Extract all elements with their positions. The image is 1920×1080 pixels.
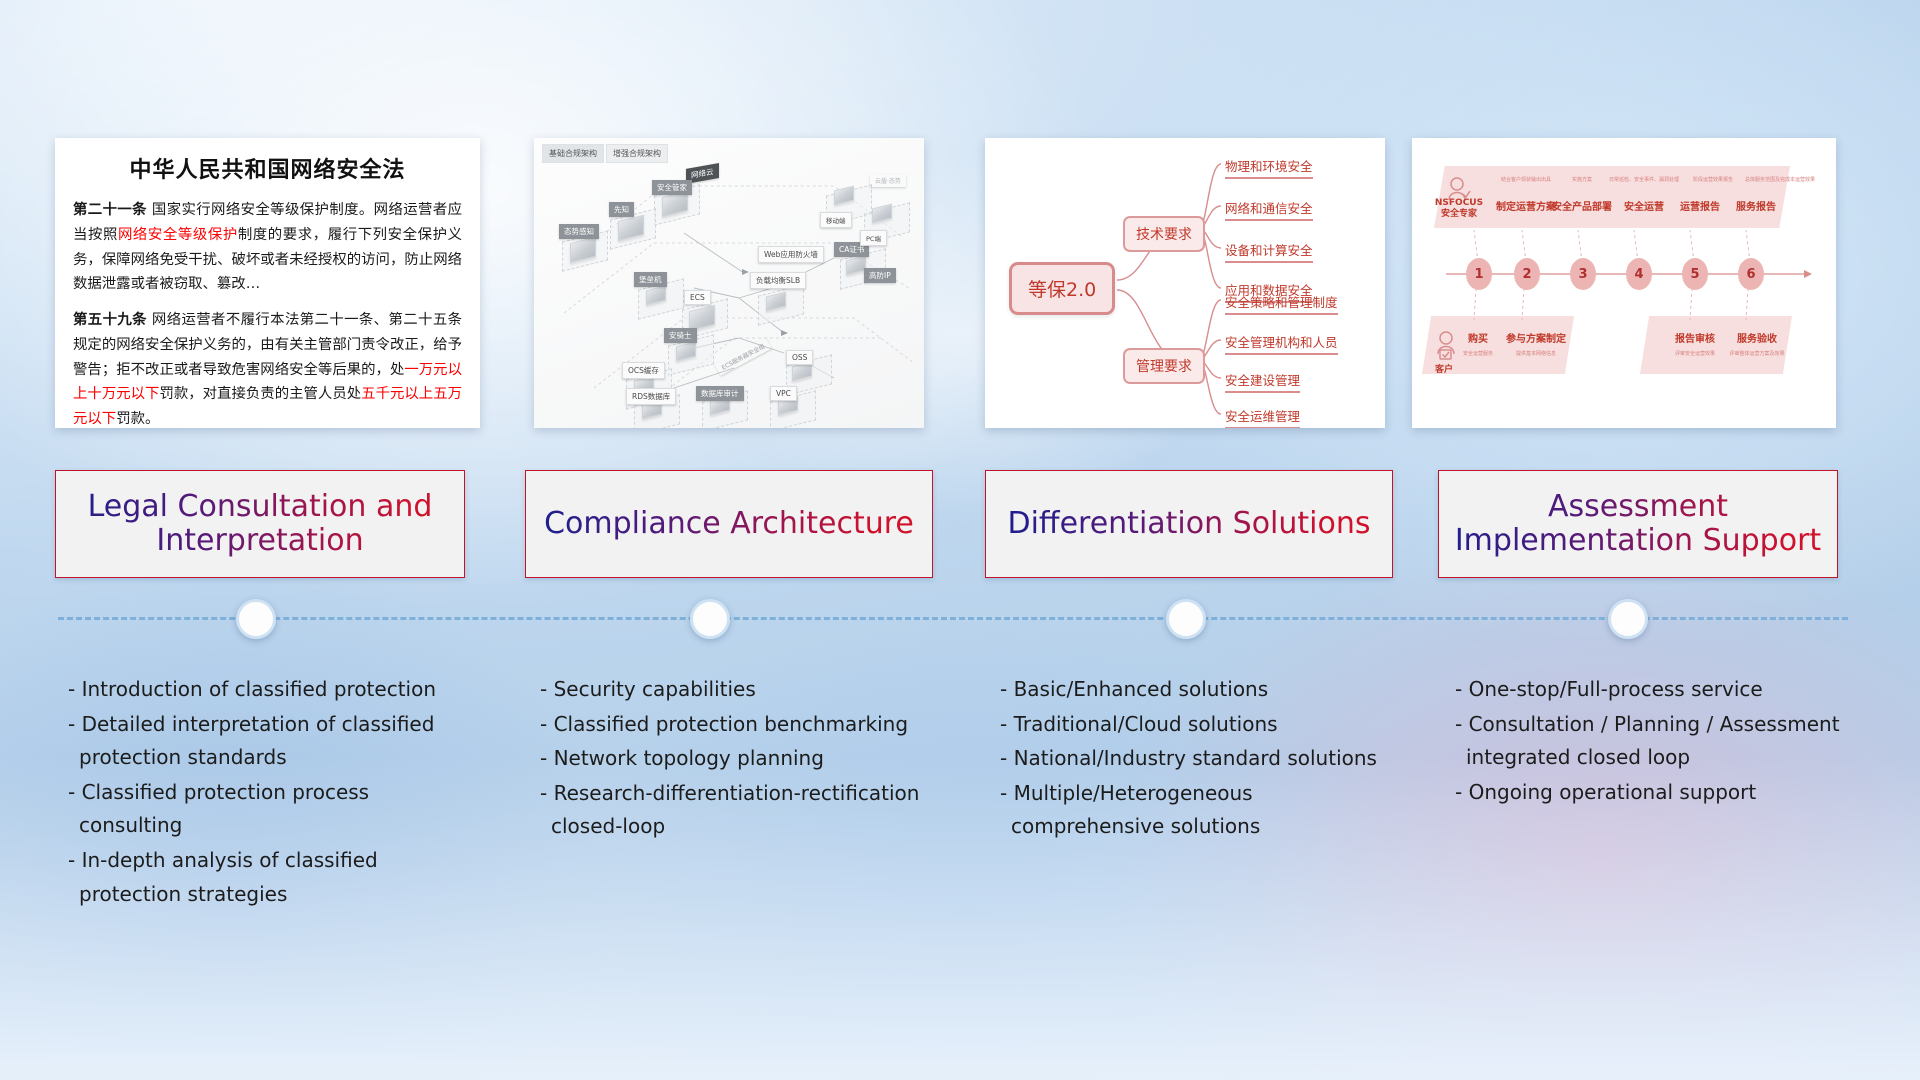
process-step-4-marker: 4 — [1626, 258, 1652, 290]
title-text-legal-consultation: Legal Consultation and Interpretation — [56, 490, 464, 559]
mindmap-root-node: 等保2.0 — [1009, 262, 1115, 315]
arch-node-bastion-host: 堡垒机 — [634, 272, 667, 287]
list-item: - Ongoing operational support — [1455, 776, 1855, 810]
law-article-21: 第二十一条 国家实行网络安全等级保护制度。网络运营者应当按照网络安全等级保护制度… — [73, 198, 462, 297]
process-step-6-marker: 6 — [1738, 258, 1764, 290]
arch-node-anti-ddos-ip: 高防IP — [864, 268, 896, 283]
mindmap-leaf-physical-environment: 物理和环境安全 — [1225, 156, 1313, 179]
arch-node-mobile: 移动端 — [820, 212, 852, 228]
list-item: - Traditional/Cloud solutions — [1000, 708, 1400, 742]
screenshot-card-mindmap: 等保2.0 技术要求 物理和环境安全 网络和通信安全 设备和计算安全 应用和数据… — [985, 138, 1385, 428]
process-step-6-top-sub: 总体服务范围及完成本运营效果 — [1732, 176, 1828, 183]
list-item: - Consultation / Planning / Assessment i… — [1455, 708, 1855, 775]
mindmap-leaf-security-construction: 安全建设管理 — [1225, 370, 1300, 393]
process-step-1-marker: 1 — [1466, 258, 1492, 290]
mindmap-leaf-device-computing: 设备和计算安全 — [1225, 240, 1313, 263]
screenshot-card-law: 中华人民共和国网络安全法 第二十一条 国家实行网络安全等级保护制度。网络运营者应… — [55, 138, 480, 428]
title-box-compliance-architecture[interactable]: Compliance Architecture — [525, 470, 933, 578]
list-item: - Basic/Enhanced solutions — [1000, 673, 1400, 707]
process-step-5-bottom-label: 报告审核 — [1664, 330, 1726, 345]
mindmap-branch-management: 管理要求 — [1123, 348, 1205, 384]
screenshot-card-architecture: 基础合规架构 增强合规架构 — [534, 138, 924, 428]
arch-node-security-butler: 安全管家 — [652, 180, 692, 195]
list-item: - Classified protection benchmarking — [540, 708, 940, 742]
title-text-assessment-implementation: Assessment Implementation Support — [1439, 490, 1837, 559]
arch-node-ocs-cache: OCS缓存 — [622, 362, 665, 379]
arch-node-pc: PC端 — [860, 230, 887, 246]
title-box-differentiation-solutions[interactable]: Differentiation Solutions — [985, 470, 1393, 578]
arch-node-rds: RDS数据库 — [626, 388, 676, 405]
timeline-dot-1[interactable] — [236, 599, 276, 639]
arch-node-db-audit: 数据库审计 — [696, 386, 744, 401]
process-customer-role: 客户 — [1424, 362, 1464, 375]
arch-node-ecs: ECS — [684, 290, 711, 305]
law-article-59: 第五十九条 网络运营者不履行本法第二十一条、第二十五条规定的网络安全保护义务的，… — [73, 308, 462, 428]
list-item: - Security capabilities — [540, 673, 940, 707]
mindmap-branch-technical: 技术要求 — [1123, 216, 1205, 252]
arch-node-waf: Web应用防火墙 — [758, 246, 824, 263]
process-step-2-marker: 2 — [1514, 258, 1540, 290]
law-article-59-label: 第五十九条 — [73, 312, 147, 328]
timeline-dot-4[interactable] — [1608, 599, 1648, 639]
process-step-6-bottom-label: 服务验收 — [1726, 330, 1788, 345]
process-step-2-top-sub: 结合客户现状输出出具 — [1490, 176, 1562, 183]
timeline-dot-3[interactable] — [1166, 599, 1206, 639]
list-item: - Research-differentiation-rectification… — [540, 777, 940, 844]
process-step-5-marker: 5 — [1682, 258, 1708, 290]
law-article-59-text-b: 罚款，对直接负责的主管人员处 — [159, 386, 361, 402]
process-step-6-bottom-sub: 评审整体运营方案及效果 — [1718, 350, 1796, 357]
arch-node-yundun: 云盾·态势 — [870, 174, 906, 187]
title-box-assessment-implementation[interactable]: Assessment Implementation Support — [1438, 470, 1838, 578]
title-text-compliance-architecture: Compliance Architecture — [538, 507, 920, 542]
list-item: - Multiple/Heterogeneous comprehensive s… — [1000, 777, 1400, 844]
arch-node-xianzhi: 先知 — [609, 202, 634, 217]
timeline-dashed-line — [58, 617, 1848, 620]
title-box-legal-consultation[interactable]: Legal Consultation and Interpretation — [55, 470, 465, 578]
list-item: - Detailed interpretation of classified … — [68, 708, 478, 775]
list-item: - Introduction of classified protection — [68, 673, 478, 707]
law-article-21-label: 第二十一条 — [73, 202, 147, 218]
bullet-list-compliance-architecture: - Security capabilities - Classified pro… — [540, 673, 940, 845]
timeline-dot-2[interactable] — [690, 599, 730, 639]
list-item: - Network topology planning — [540, 742, 940, 776]
process-step-2-bottom-label: 参与方案制定 — [1502, 330, 1570, 345]
process-step-3-marker: 3 — [1570, 258, 1596, 290]
bullet-list-assessment-implementation: - One-stop/Full-process service - Consul… — [1455, 673, 1855, 810]
arch-node-situational-awareness: 态势感知 — [559, 224, 599, 239]
list-item: - Classified protection process consulti… — [68, 776, 478, 843]
process-step-4-top-sub: 日常巡检、安全事件、漏洞处理 — [1598, 176, 1690, 183]
bullet-list-differentiation-solutions: - Basic/Enhanced solutions - Traditional… — [1000, 673, 1400, 845]
mindmap-leaf-security-policy: 安全策略和管理制度 — [1225, 292, 1338, 315]
list-item: - One-stop/Full-process service — [1455, 673, 1855, 707]
arch-node-vpc: VPC — [770, 386, 797, 401]
process-step-1-bottom-label: 购买 — [1454, 330, 1502, 345]
process-step-6-top-label: 服务报告 — [1720, 198, 1792, 213]
law-article-59-text-c: 罚款。 — [116, 411, 159, 427]
process-expert-role: NSFOCUS安全专家 — [1430, 198, 1488, 220]
mindmap-leaf-security-ops: 安全运维管理 — [1225, 406, 1300, 428]
mindmap-leaf-security-org: 安全管理机构和人员 — [1225, 332, 1338, 355]
title-text-differentiation-solutions: Differentiation Solutions — [1001, 507, 1376, 542]
arch-node-anqishi: 安骑士 — [664, 328, 697, 343]
law-article-21-highlight: 网络安全等级保护 — [118, 227, 238, 243]
process-step-1-bottom-sub: 安全运营服务 — [1450, 350, 1506, 357]
arch-node-slb: 负载均衡SLB — [750, 272, 806, 289]
list-item: - In-depth analysis of classified protec… — [68, 844, 478, 911]
arch-node-oss: OSS — [786, 350, 813, 365]
law-title: 中华人民共和国网络安全法 — [73, 152, 462, 184]
list-item: - National/Industry standard solutions — [1000, 742, 1400, 776]
mindmap-leaf-network-communication: 网络和通信安全 — [1225, 198, 1313, 221]
screenshot-card-process: NSFOCUS安全专家 客户 结合客户现状输出出具 实施方案 日常巡检、安全事件… — [1412, 138, 1836, 428]
process-step-2-bottom-sub: 提供基本网络信息 — [1502, 350, 1570, 357]
bullet-list-legal-consultation: - Introduction of classified protection … — [68, 673, 478, 912]
timeline — [0, 575, 1920, 665]
